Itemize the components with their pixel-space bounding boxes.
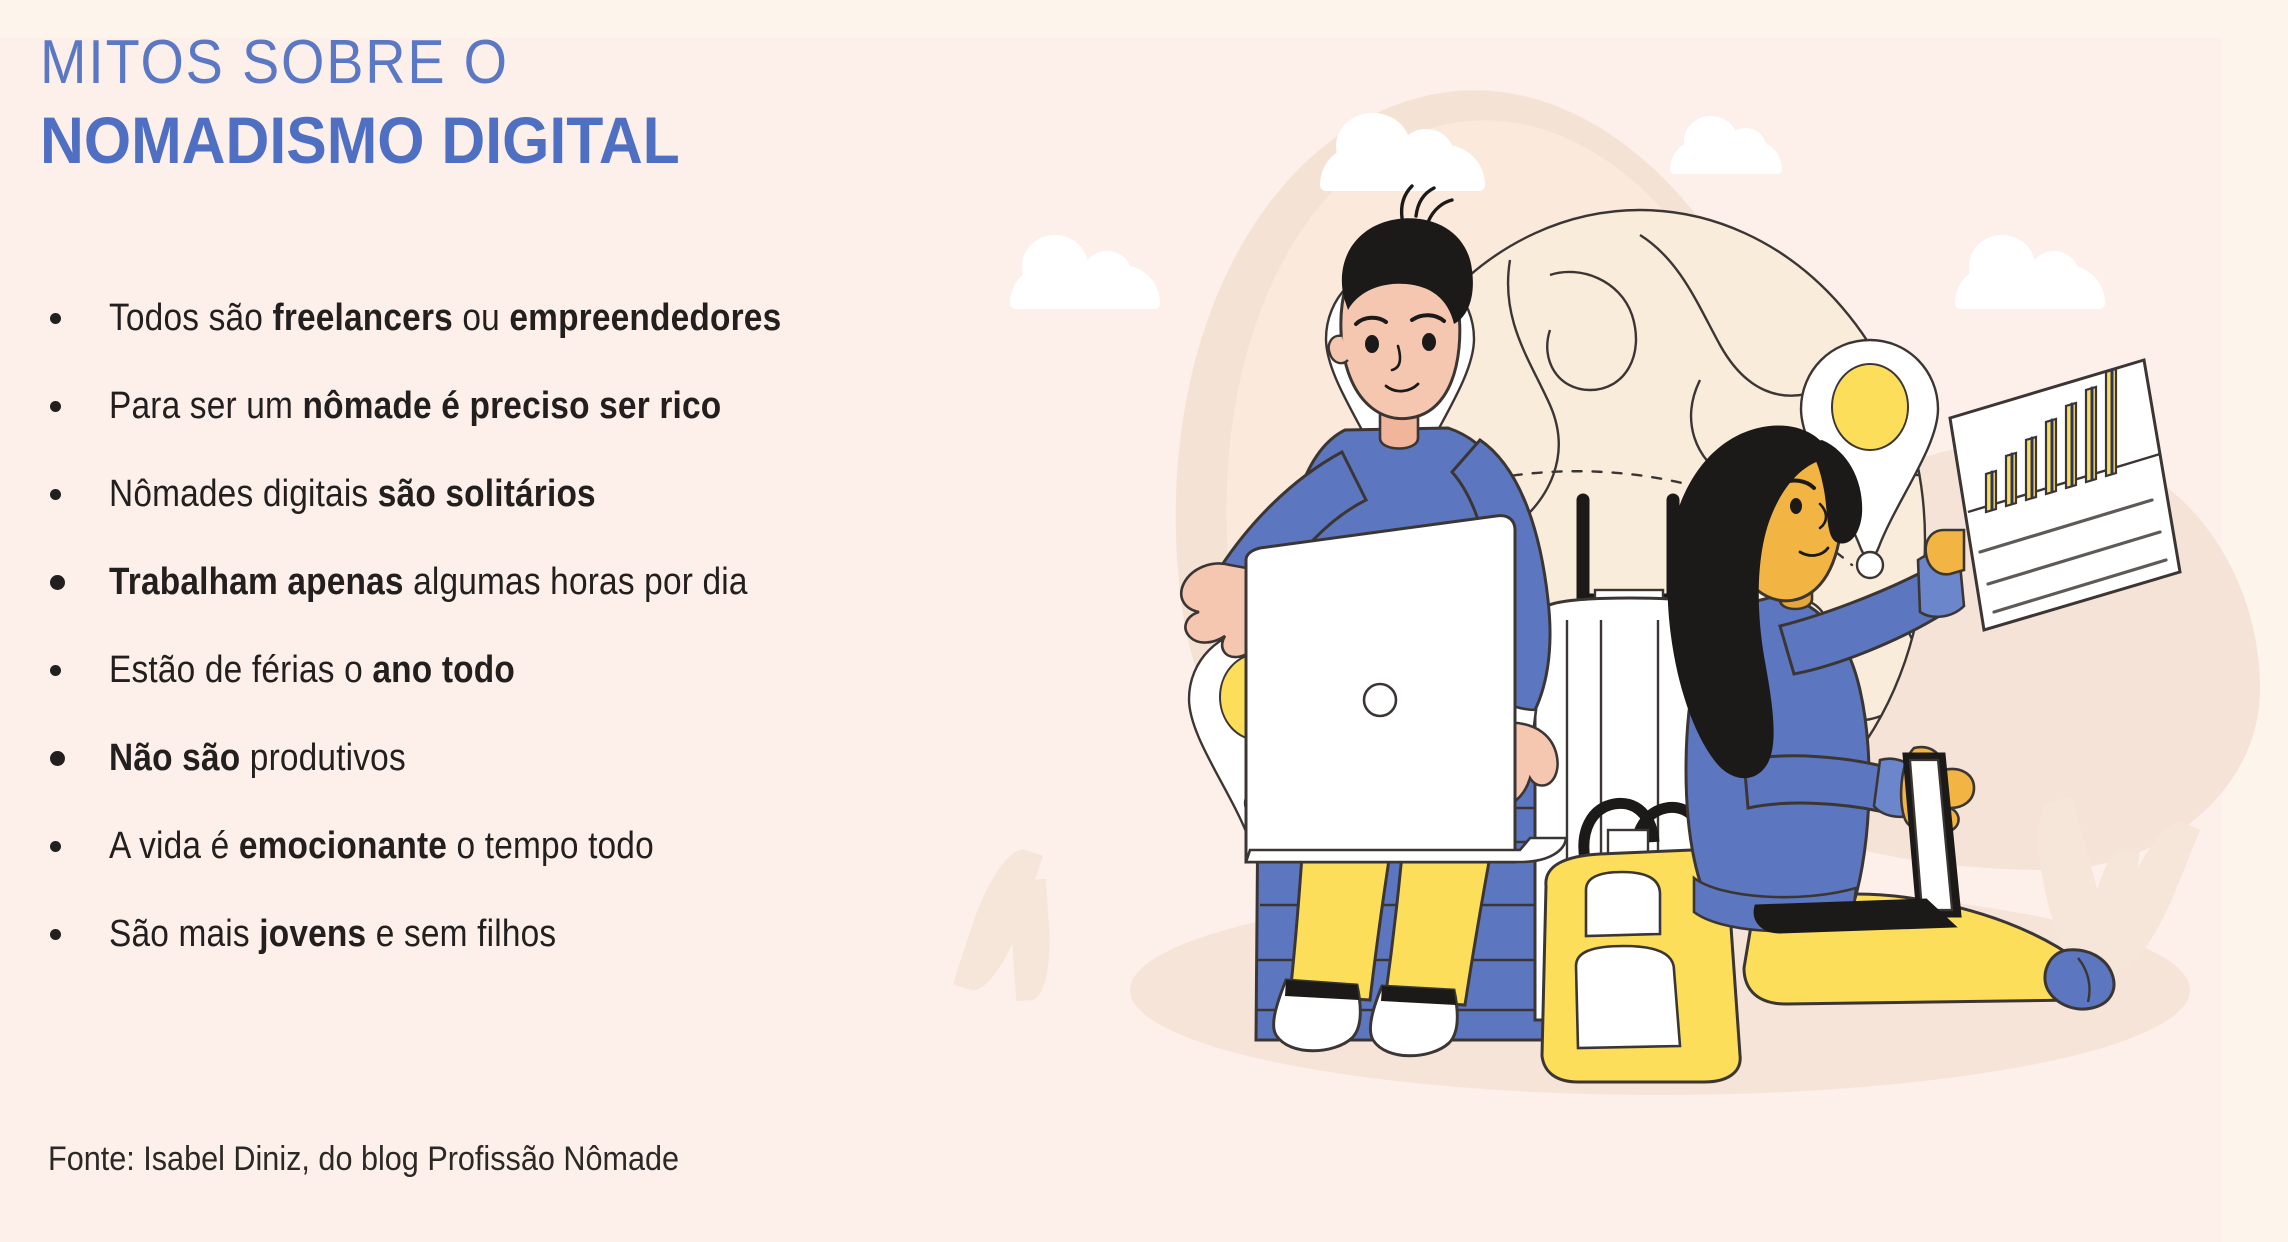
list-item-label: Estão de férias o ano todo [109, 649, 515, 692]
list-item-text: o tempo todo [447, 825, 654, 867]
list-item: São mais jovens e sem filhos [40, 904, 1060, 964]
list-item: Nômades digitais são solitários [40, 464, 1060, 524]
list-item-label: Não são produtivos [109, 737, 406, 780]
infographic-canvas: MITOS SOBRE O NOMADISMO DIGITAL Todos sã… [0, 0, 2288, 1242]
list-item: Trabalham apenas algumas horas por dia [40, 552, 1060, 612]
list-item-label: Todos são freelancers ou empreendedores [109, 297, 781, 340]
list-item-label: A vida é emocionante o tempo todo [109, 825, 654, 868]
list-item-text: algumas horas por dia [404, 561, 748, 603]
nomad-illustration [1080, 60, 2260, 1110]
list-item-emphasis: jovens [259, 913, 366, 955]
bullet-dot-icon [50, 575, 65, 590]
list-item: Para ser um nômade é preciso ser rico [40, 376, 1060, 436]
list-item-text: A vida é [109, 825, 239, 867]
list-item-text: ou [453, 297, 509, 339]
list-item-label: São mais jovens e sem filhos [109, 913, 556, 956]
list-item-emphasis: freelancers [273, 297, 453, 339]
list-item-emphasis: Não são [109, 737, 240, 779]
list-item-emphasis: Trabalham apenas [109, 561, 404, 603]
bullet-dot-icon [50, 665, 61, 676]
list-item-emphasis: nômade é preciso ser rico [303, 385, 722, 427]
list-item-label: Para ser um nômade é preciso ser rico [109, 385, 721, 428]
list-item-emphasis: emocionante [239, 825, 447, 867]
list-item-text: Todos são [109, 297, 273, 339]
list-item-emphasis: ano todo [372, 649, 515, 691]
title-line-1: MITOS SOBRE O [40, 28, 666, 97]
title-line-2: NOMADISMO DIGITAL [40, 103, 680, 179]
list-item: Todos são freelancers ou empreendedores [40, 288, 1060, 348]
list-item-text: e sem filhos [366, 913, 556, 955]
bullet-dot-icon [50, 841, 61, 852]
bullet-dot-icon [50, 401, 61, 412]
bullet-dot-icon [50, 489, 61, 500]
list-item-text: produtivos [240, 737, 406, 779]
list-item-text: Nômades digitais [109, 473, 378, 515]
source-credit: Fonte: Isabel Diniz, do blog Profissão N… [48, 1140, 679, 1179]
list-item-emphasis: empreendedores [509, 297, 781, 339]
list-item: Estão de férias o ano todo [40, 640, 1060, 700]
list-item-text: São mais [109, 913, 259, 955]
list-item-text: Estão de férias o [109, 649, 372, 691]
list-item-label: Trabalham apenas algumas horas por dia [109, 561, 748, 604]
bullet-dot-icon [50, 751, 65, 766]
list-item-emphasis: são solitários [378, 473, 596, 515]
chart-paper [1950, 360, 2180, 630]
list-item-text: Para ser um [109, 385, 303, 427]
list-item: A vida é emocionante o tempo todo [40, 816, 1060, 876]
myths-list: Todos são freelancers ou empreendedoresP… [40, 288, 1060, 992]
page-title: MITOS SOBRE O NOMADISMO DIGITAL [40, 28, 735, 179]
list-item: Não são produtivos [40, 728, 1060, 788]
bullet-dot-icon [50, 313, 61, 324]
bullet-dot-icon [50, 929, 61, 940]
list-item-label: Nômades digitais são solitários [109, 473, 596, 516]
